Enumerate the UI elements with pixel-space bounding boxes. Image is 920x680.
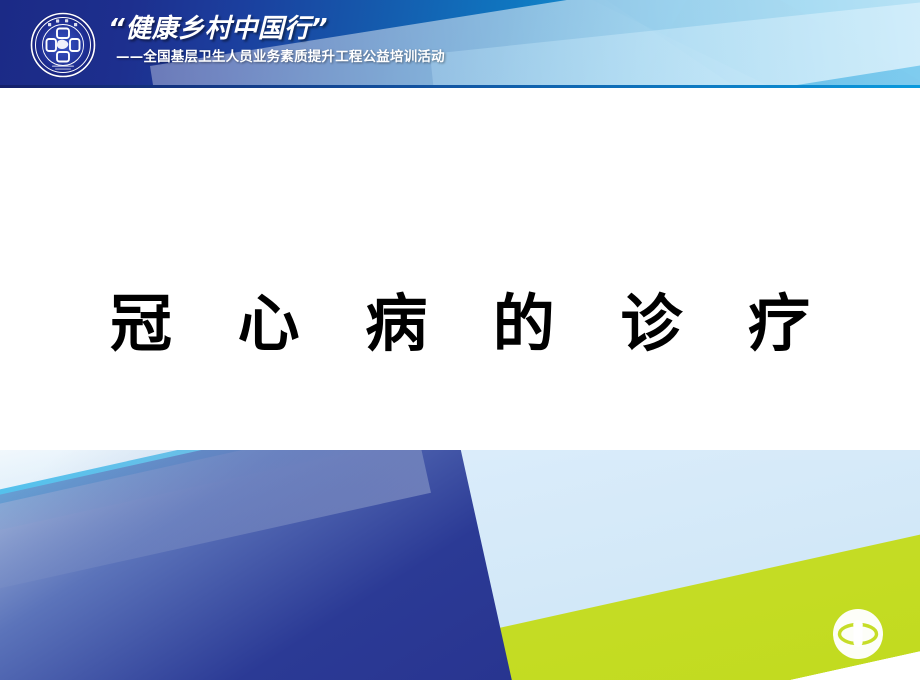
health-village-emblem-icon bbox=[29, 11, 97, 79]
footer-decoration bbox=[0, 450, 920, 680]
header-text-block: “健康乡村中国行” ——全国基层卫生人员业务素质提升工程公益培训活动 bbox=[108, 16, 445, 65]
slide-main-title: 冠 心 病 的 诊 疗 bbox=[60, 288, 860, 359]
footer-haze-overlay bbox=[0, 450, 431, 605]
campaign-title: “健康乡村中国行” bbox=[108, 16, 445, 42]
header-diagonal-band-5 bbox=[600, 0, 920, 88]
footer-navy-wedge bbox=[0, 450, 540, 680]
footer-green-wedge bbox=[0, 450, 920, 680]
presentation-slide: “健康乡村中国行” ——全国基层卫生人员业务素质提升工程公益培训活动 冠 心 病… bbox=[0, 0, 920, 680]
footer-pale-blue-band-2 bbox=[0, 450, 920, 680]
footer-cyan-stripe bbox=[0, 450, 920, 592]
footer-sheen-band-2 bbox=[400, 450, 920, 457]
footer-sheen-band-1 bbox=[240, 450, 920, 516]
header-diagonal-band-2 bbox=[400, 0, 920, 88]
header-diagonal-band-4 bbox=[430, 0, 920, 88]
cip-oval-figure-logo-icon bbox=[832, 608, 884, 660]
campaign-subtitle: ——全国基层卫生人员业务素质提升工程公益培训活动 bbox=[116, 51, 445, 65]
footer-light-cyan-band bbox=[0, 450, 920, 617]
footer-pale-blue-band-1 bbox=[0, 450, 920, 680]
